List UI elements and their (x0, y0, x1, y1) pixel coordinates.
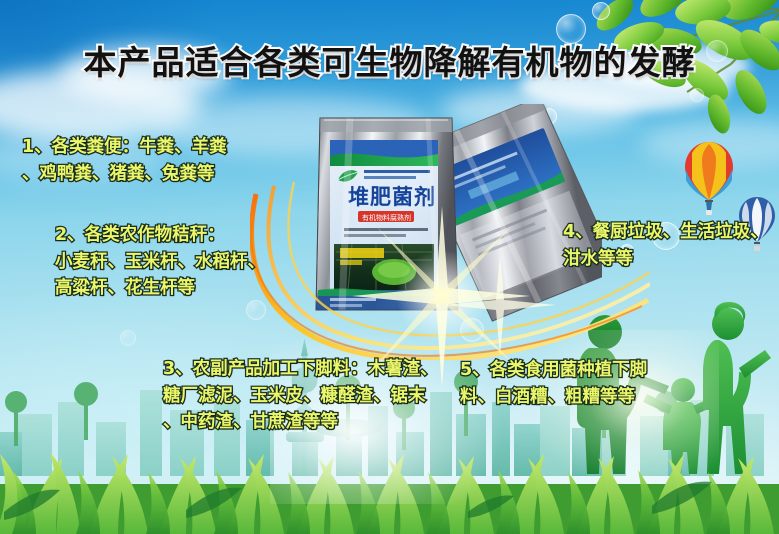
bullet-line: 、鸡鸭粪、猪粪、兔粪等 (22, 161, 227, 188)
svg-text:有机物料腐熟剂: 有机物料腐熟剂 (362, 213, 411, 222)
bullet-line: 4、餐厨垃圾、生活垃圾、 (563, 219, 768, 246)
bullet-line: 料、白酒糟、粗糟等等 (460, 384, 647, 411)
bullet-line: 高粱杆、花生杆等 (55, 275, 265, 302)
bullet-line: 5、各类食用菌种植下脚 (460, 357, 647, 384)
bullet-line: 泔水等等 (563, 246, 768, 273)
page-title: 本产品适合各类可生物降解有机物的发酵 (0, 36, 779, 84)
bullet-line: 1、各类粪便：牛粪、羊粪 (22, 134, 227, 161)
bullet-manure: 1、各类粪便：牛粪、羊粪 、鸡鸭粪、猪粪、兔粪等 (22, 134, 227, 187)
product-bag-front: 堆肥菌剂 有机物料腐熟剂 (306, 112, 466, 322)
bullet-line: 3、农副产品加工下脚料：木薯渣、 (163, 356, 438, 383)
bullet-agri-byproduct: 3、农副产品加工下脚料：木薯渣、 糖厂滤泥、玉米皮、糠醛渣、锯末 、中药渣、甘蔗… (163, 356, 438, 436)
bullet-crop-straw: 2、各类农作物秸秆： 小麦秆、玉米杆、水稻杆、 高粱杆、花生杆等 (55, 222, 265, 302)
bullet-line: 小麦秆、玉米杆、水稻杆、 (55, 249, 265, 276)
bullet-line: 糖厂滤泥、玉米皮、糠醛渣、锯末 (163, 383, 438, 410)
bag-product-name: 堆肥菌剂 (348, 185, 436, 209)
bullet-line: 2、各类农作物秸秆： (55, 222, 265, 249)
bullet-line: 、中药渣、甘蔗渣等等 (163, 409, 438, 436)
bullet-kitchen-waste: 4、餐厨垃圾、生活垃圾、 泔水等等 (563, 219, 768, 272)
bullet-mushroom-residue: 5、各类食用菌种植下脚 料、白酒糟、粗糟等等 (460, 357, 647, 410)
hot-air-balloon-icon (683, 140, 735, 218)
poster-canvas: 堆肥菌剂 有机物料腐熟剂 (0, 0, 779, 534)
